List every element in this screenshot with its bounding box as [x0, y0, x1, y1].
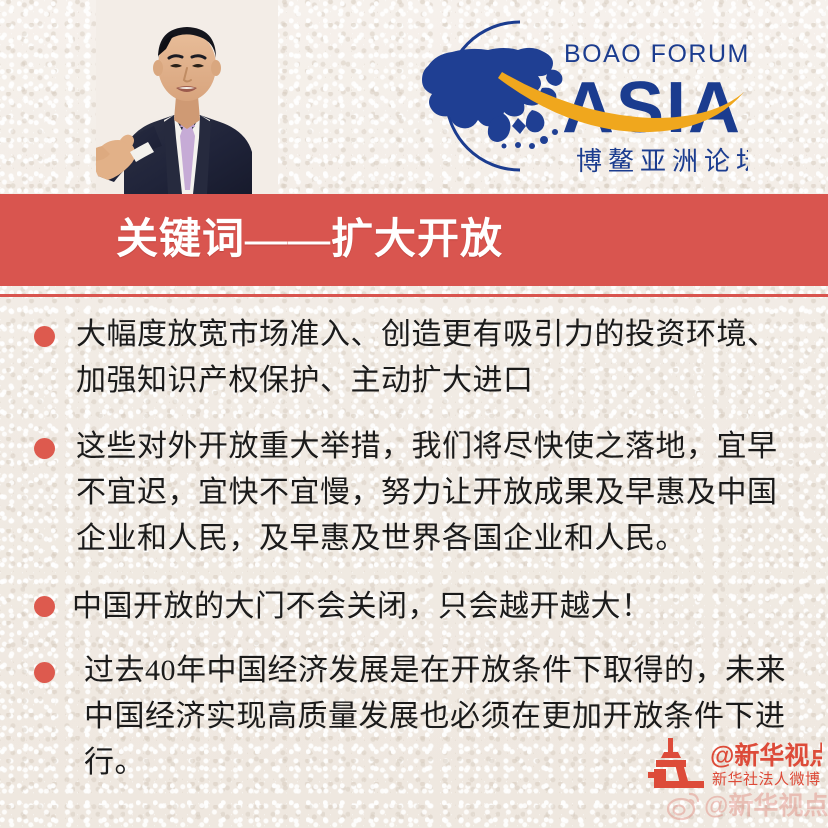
poster-header: BOAO FORUM FOR ASIA 博鳌亚洲论坛	[0, 0, 828, 194]
banner-underline-rule	[0, 294, 828, 297]
xinhua-logo-mark	[648, 738, 704, 788]
xinhua-handle-text: @新华视点	[710, 741, 822, 770]
weibo-handle-text: @新华视点	[704, 794, 828, 819]
list-item-text: 这些对外开放重大举措，我们将尽快使之落地，宜早不宜迟，宜快不宜慢，努力让开放成果…	[76, 424, 794, 562]
list-item: 这些对外开放重大举措，我们将尽快使之落地，宜早不宜迟，宜快不宜慢，努力让开放成果…	[0, 424, 828, 562]
boao-forum-logo: BOAO FORUM FOR ASIA 博鳌亚洲论坛	[392, 14, 748, 180]
weibo-eye-icon	[666, 791, 700, 821]
bullet-list: 大幅度放宽市场准入、创造更有吸引力的投资环境、加强知识产权保护、主动扩大进口 这…	[0, 306, 828, 776]
weibo-watermark: @新华视点	[666, 786, 828, 826]
keyword-banner: 关键词——扩大开放	[0, 194, 828, 286]
svg-text:ASIA: ASIA	[562, 68, 742, 148]
bullet-dot-icon	[34, 326, 55, 347]
page-title: 关键词——扩大开放	[116, 219, 503, 261]
list-item-text: 中国开放的大门不会关闭，只会越开越大！	[72, 584, 794, 630]
list-item: 中国开放的大门不会关闭，只会越开越大！	[0, 584, 828, 630]
list-item-text: 大幅度放宽市场准入、创造更有吸引力的投资环境、加强知识产权保护、主动扩大进口	[76, 312, 794, 404]
list-item: 大幅度放宽市场准入、创造更有吸引力的投资环境、加强知识产权保护、主动扩大进口	[0, 312, 828, 404]
svg-text:博鳌亚洲论坛: 博鳌亚洲论坛	[576, 147, 748, 176]
xinhua-badge: @新华视点 新华社法人微博	[646, 736, 822, 792]
bullet-dot-icon	[34, 438, 55, 459]
svg-text:BOAO FORUM FOR: BOAO FORUM FOR	[564, 40, 748, 68]
poster-canvas: BOAO FORUM FOR ASIA 博鳌亚洲论坛 关键词——扩大开放 大幅度…	[0, 0, 828, 828]
bullet-dot-icon	[34, 662, 55, 683]
bullet-dot-icon	[34, 596, 55, 617]
speaker-portrait	[96, 0, 278, 194]
